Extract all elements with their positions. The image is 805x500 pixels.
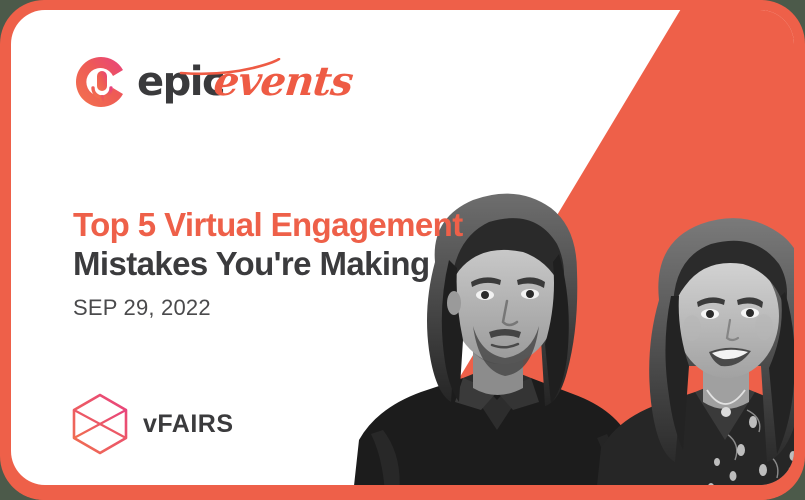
vfairs-logo: vFAIRS	[71, 393, 234, 455]
webinar-card: epic events Top 5 Virtual Engagement Mis…	[0, 0, 805, 500]
hexagon-cube-icon	[71, 393, 129, 455]
card-inner-panel: epic events Top 5 Virtual Engagement Mis…	[11, 10, 794, 485]
event-date: SEP 29, 2022	[73, 295, 463, 321]
epic-events-logo: epic events	[73, 54, 352, 110]
logo-text-epic: epic	[137, 62, 224, 102]
page-title-line-2: Mistakes You're Making	[73, 245, 463, 284]
headline-block: Top 5 Virtual Engagement Mistakes You're…	[73, 206, 463, 321]
card-bottom-accent-strip	[11, 485, 794, 500]
logo-text-events: events	[212, 62, 354, 102]
page-title-line-1: Top 5 Virtual Engagement	[73, 206, 463, 245]
microphone-in-c-icon	[73, 54, 129, 110]
vfairs-wordmark: vFAIRS	[143, 410, 234, 439]
webinar-promo-card-stage: epic events Top 5 Virtual Engagement Mis…	[0, 0, 805, 500]
